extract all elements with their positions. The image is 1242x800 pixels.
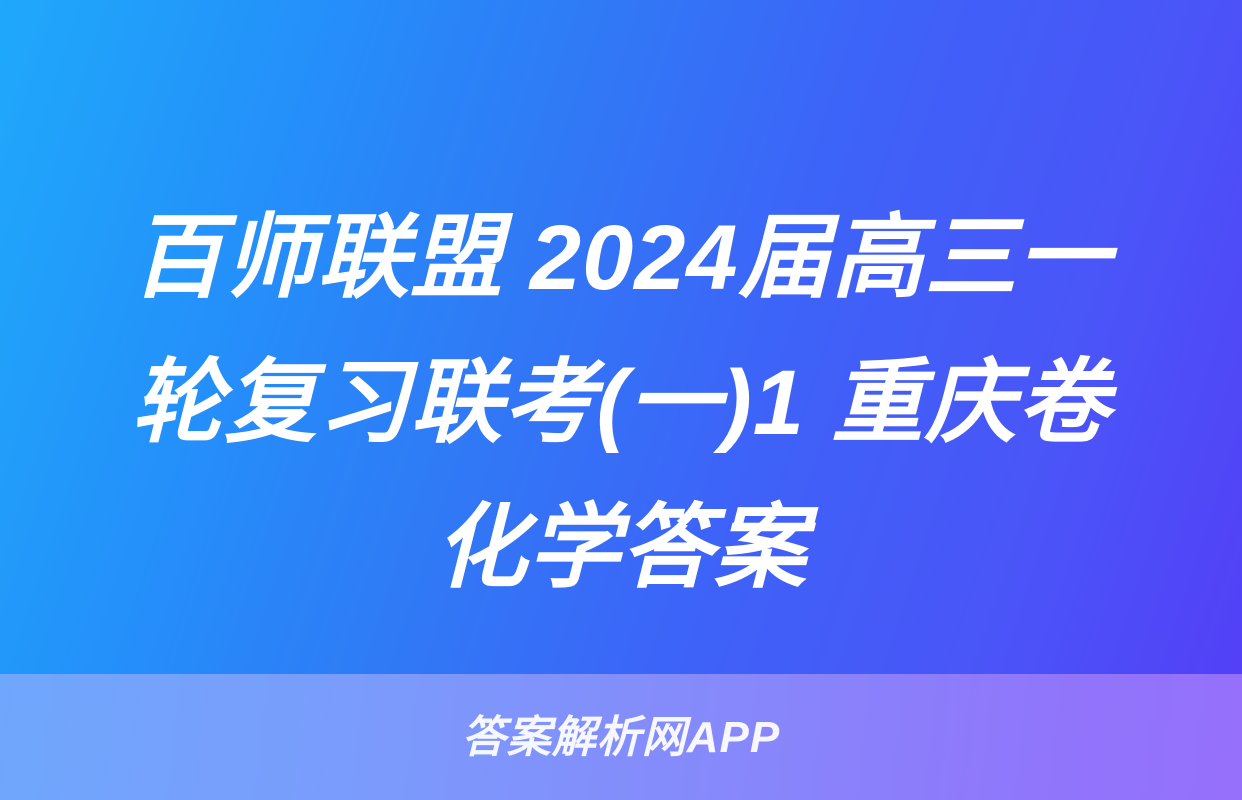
poster-title: 百师联盟 2024届高三一 轮复习联考(一)1 重庆卷 化学答案	[0, 186, 1242, 621]
title-line-2: 轮复习联考(一)1 重庆卷	[40, 331, 1202, 476]
title-line-3: 化学答案	[40, 476, 1202, 621]
poster-canvas: 百师联盟 2024届高三一 轮复习联考(一)1 重庆卷 化学答案 答案解析网AP…	[0, 0, 1242, 800]
title-line-1: 百师联盟 2024届高三一	[40, 186, 1202, 331]
footer-watermark: 答案解析网APP	[0, 712, 1242, 764]
watermark-label: 答案解析网APP	[462, 712, 780, 764]
